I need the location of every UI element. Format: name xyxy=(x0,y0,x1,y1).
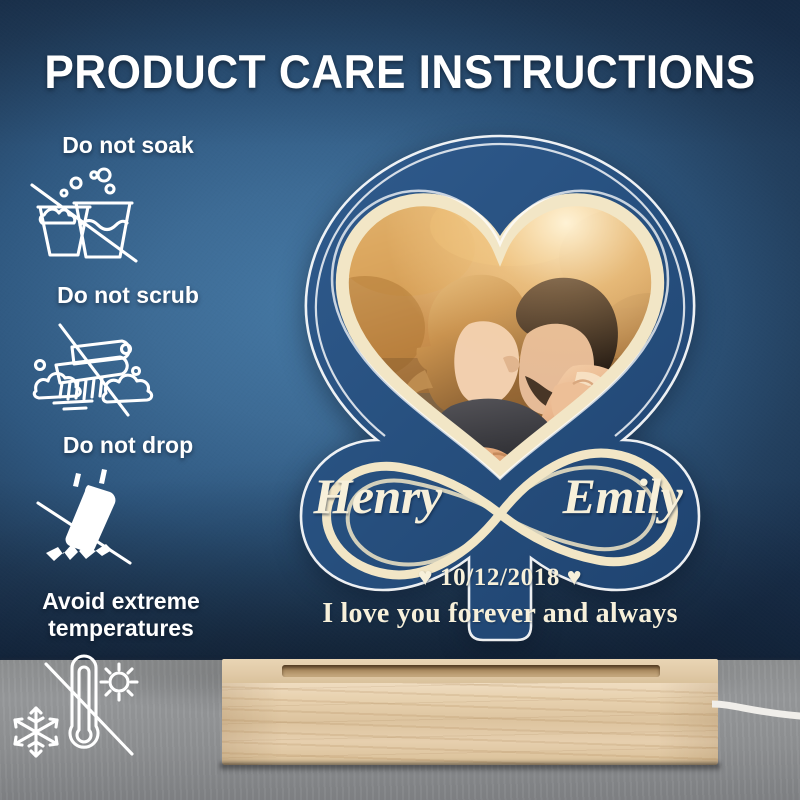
base-contact-shadow xyxy=(220,763,720,772)
plaque-shape xyxy=(255,118,745,678)
product-care-instructions-image: PRODUCT CARE INSTRUCTIONS Do not soak xyxy=(0,0,800,800)
care-label-do-not-soak: Do not soak xyxy=(18,132,238,159)
care-label-do-not-scrub: Do not scrub xyxy=(18,282,238,309)
base-top-surface xyxy=(222,659,718,685)
no-drop-icon xyxy=(18,463,238,567)
care-item-do-not-soak: Do not soak xyxy=(18,132,238,263)
care-item-avoid-extreme-temperatures: Avoid extreme temperatures xyxy=(6,588,236,758)
no-soak-bucket-icon xyxy=(18,163,238,263)
care-label-do-not-drop: Do not drop xyxy=(18,432,238,459)
wooden-lamp-base xyxy=(222,659,718,771)
page-title: PRODUCT CARE INSTRUCTIONS xyxy=(24,44,776,99)
care-item-do-not-drop: Do not drop xyxy=(18,432,238,567)
care-label-avoid-extreme-temperatures: Avoid extreme temperatures xyxy=(6,588,236,642)
care-item-do-not-scrub: Do not scrub xyxy=(18,282,238,417)
no-extreme-temperature-icon xyxy=(6,650,236,758)
base-front-face xyxy=(222,683,718,765)
power-cable xyxy=(712,700,800,726)
base-acrylic-slot xyxy=(282,665,660,677)
no-scrub-brush-icon xyxy=(18,313,238,417)
acrylic-photo-lamp: Henry Emily ♥ 10/12/2018 ♥ I love you fo… xyxy=(255,118,745,678)
